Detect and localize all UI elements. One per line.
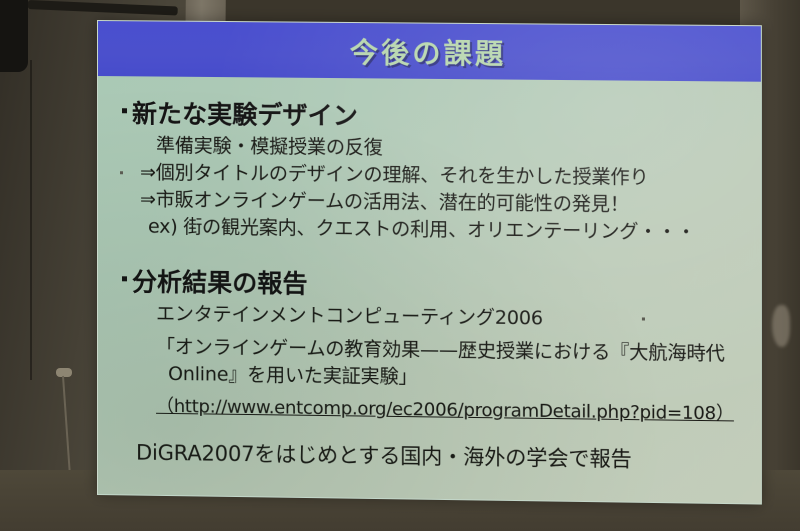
section-heading-2: 分析結果の報告: [122, 262, 734, 305]
slide-title-band: 今後の課題: [98, 21, 761, 82]
reference-url-link[interactable]: （http://www.entcomp.org/ec2006/programDe…: [122, 393, 734, 427]
closing-line: DiGRA2007をはじめとする国内・海外の学会で報告: [122, 439, 734, 477]
room-photo-scene: 今後の課題 新たな実験デザイン 準備実験・模擬授業の反復 ⇒個別タイトルのデザイ…: [0, 0, 800, 531]
projection-screen: 今後の課題 新たな実験デザイン 準備実験・模擬授業の反復 ⇒個別タイトルのデザイ…: [97, 20, 762, 505]
section-heading-1-label: 新たな実験デザイン: [132, 94, 358, 132]
screen-speck: [642, 317, 645, 320]
page-title: 今後の課題: [350, 31, 506, 72]
square-bullet-icon: [122, 276, 127, 281]
section-heading-1: 新たな実験デザイン: [122, 94, 734, 136]
section-1-line-4: ex) 街の観光案内、クエストの利用、オリエンテーリング・・・: [122, 213, 734, 247]
square-bullet-icon: [122, 108, 127, 113]
slide-body: 新たな実験デザイン 準備実験・模擬授業の反復 ⇒個別タイトルのデザインの理解、そ…: [98, 76, 761, 504]
hanging-cable: [30, 60, 32, 380]
presentation-slide: 今後の課題 新たな実験デザイン 準備実験・模擬授業の反復 ⇒個別タイトルのデザイ…: [97, 20, 762, 505]
speaker-box-icon: [0, 0, 28, 72]
section-heading-2-label: 分析結果の報告: [132, 262, 308, 300]
screen-speck: [120, 171, 123, 174]
wall-smudge: [772, 305, 790, 347]
